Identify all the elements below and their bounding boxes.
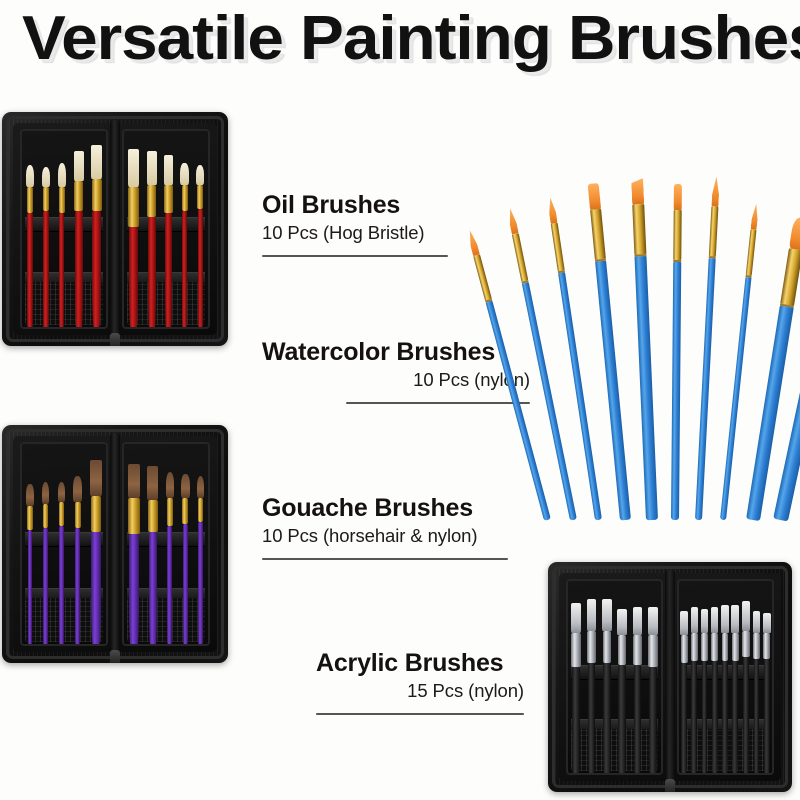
zipper-pull-icon	[665, 779, 675, 792]
ferrule-band	[709, 256, 716, 258]
brush-handle	[754, 659, 760, 775]
divider-rule	[262, 558, 508, 560]
brush-handle	[695, 258, 716, 520]
brush-bristles	[128, 149, 140, 187]
brush-handle	[618, 665, 625, 775]
brush-handle	[691, 661, 697, 775]
brush-ferrule	[618, 635, 627, 665]
brush-handle	[91, 532, 100, 646]
category-title-acrylic: Acrylic Brushes	[316, 648, 524, 678]
brush-ferrule	[91, 496, 102, 532]
brush-ferrule	[147, 185, 156, 217]
category-spec-oil: 10 Pcs (Hog Bristle)	[262, 220, 448, 245]
brush-ferrule	[633, 635, 642, 665]
brush-bristles	[571, 603, 581, 633]
brush-handle	[712, 661, 718, 775]
brush-in-case	[181, 450, 189, 646]
brush-bristles	[91, 145, 102, 179]
divider-rule	[262, 255, 448, 257]
brush-in-case	[197, 450, 205, 646]
brush-in-case	[26, 137, 34, 329]
brush-in-case	[58, 137, 66, 329]
brush-handle	[43, 528, 48, 646]
category-spec-acrylic: 15 Pcs (nylon)	[316, 678, 524, 703]
brush-in-case	[164, 137, 173, 329]
brush-in-case	[602, 587, 611, 775]
brush-in-case	[42, 450, 50, 646]
brush-in-case	[742, 587, 750, 775]
case-spine	[110, 433, 120, 655]
brush-handle	[634, 256, 658, 520]
case-spine	[665, 570, 675, 784]
brush-bristles	[701, 609, 708, 633]
brush-ferrule	[128, 498, 140, 534]
brush-in-case	[753, 587, 760, 775]
brush-ferrule	[551, 223, 565, 272]
brush-bristles	[42, 167, 50, 187]
brush-handle	[59, 213, 64, 329]
brush-ferrule	[691, 633, 698, 661]
brush-in-case	[128, 137, 140, 329]
brush-ferrule	[571, 633, 580, 667]
brush-in-case	[166, 450, 174, 646]
brush-bristles	[26, 165, 34, 187]
brush-bristles	[711, 607, 718, 633]
watercolor-brush	[631, 178, 658, 520]
brush-handle	[732, 661, 738, 775]
brush-handle	[183, 524, 188, 646]
brush-handle	[165, 213, 172, 329]
brush-bristles	[633, 607, 642, 635]
brush-ferrule	[148, 500, 158, 532]
brush-bristles	[547, 197, 558, 224]
brush-bristles	[73, 476, 81, 502]
brush-handle	[720, 277, 751, 520]
brush-handle	[198, 522, 203, 646]
brush-bristles	[753, 611, 760, 633]
brush-bristles	[617, 609, 626, 635]
brush-ferrule	[128, 187, 139, 227]
brush-in-case	[42, 137, 50, 329]
brush-in-case	[763, 587, 770, 775]
brush-ferrule	[197, 185, 203, 209]
brush-ferrule	[512, 233, 528, 281]
category-spec-watercolor: 10 Pcs (nylon)	[262, 367, 530, 392]
brush-bristles	[196, 165, 204, 185]
brush-ferrule	[182, 498, 188, 524]
brush-bristles	[197, 476, 205, 498]
brush-handle	[27, 213, 32, 329]
brush-handle	[149, 532, 158, 646]
brush-bristles	[58, 482, 66, 502]
brush-ferrule	[780, 248, 800, 306]
brush-bristles	[164, 155, 173, 185]
brush-ferrule	[182, 185, 188, 211]
brush-bristles	[587, 599, 596, 631]
brush-handle	[572, 667, 580, 775]
brush-handle	[129, 227, 138, 329]
brush-bristles	[711, 176, 720, 206]
brush-in-case	[196, 137, 204, 329]
brush-ferrule	[673, 210, 681, 260]
zipper-pull-icon	[110, 333, 120, 346]
brush-ferrule	[603, 631, 612, 663]
brush-handle	[148, 217, 156, 329]
brush-bristles	[602, 599, 611, 631]
brush-bristles	[26, 484, 34, 506]
brush-in-case	[633, 587, 642, 775]
brush-ferrule	[701, 633, 708, 661]
brush-in-case	[701, 587, 708, 775]
brush-ferrule	[711, 633, 718, 661]
case-leaf-right	[122, 442, 210, 646]
brush-in-case	[680, 587, 687, 775]
brush-bristles	[166, 472, 174, 498]
divider-rule	[316, 713, 524, 715]
brush-ferrule	[167, 498, 173, 526]
brush-bristles	[507, 208, 519, 235]
brush-in-case	[74, 137, 84, 329]
brush-handle	[588, 663, 595, 775]
brush-in-case	[58, 450, 66, 646]
brush-in-case	[147, 450, 158, 646]
brush-ferrule	[27, 506, 32, 530]
brush-handle	[649, 667, 657, 775]
brush-ferrule	[709, 206, 719, 256]
brush-bristles	[763, 613, 770, 633]
brush-ferrule	[746, 229, 757, 275]
brush-in-case	[26, 450, 34, 646]
brush-ferrule	[648, 635, 657, 667]
brush-ferrule	[75, 502, 81, 528]
brush-in-case	[571, 587, 581, 775]
category-block-oil: Oil Brushes 10 Pcs (Hog Bristle)	[262, 190, 448, 257]
brush-handle	[182, 211, 187, 329]
acrylic-brush-case-photo	[548, 562, 792, 792]
brush-ferrule	[587, 631, 596, 663]
brush-bristles	[751, 203, 760, 229]
brush-bristles	[181, 474, 189, 498]
brush-in-case	[721, 587, 728, 775]
category-title-gouache: Gouache Brushes	[262, 493, 508, 523]
brush-bristles	[691, 607, 698, 633]
category-block-acrylic: Acrylic Brushes 15 Pcs (nylon)	[316, 648, 524, 715]
brush-in-case	[587, 587, 596, 775]
brush-bristles	[147, 466, 158, 500]
case-leaf-right	[677, 579, 774, 775]
brush-ferrule	[43, 187, 49, 211]
brush-bristles	[128, 464, 141, 498]
brush-in-case	[147, 137, 157, 329]
brush-ferrule	[732, 633, 739, 661]
brush-bristles	[90, 460, 102, 496]
category-title-watercolor: Watercolor Brushes	[262, 337, 530, 367]
case-spine	[110, 120, 120, 338]
brush-handle	[743, 657, 750, 775]
case-leaf-right	[122, 129, 210, 329]
brush-in-case	[617, 587, 626, 775]
oil-brush-case-photo	[2, 112, 228, 346]
category-block-watercolor: Watercolor Brushes 10 Pcs (nylon)	[262, 337, 530, 404]
brush-ferrule	[681, 635, 688, 663]
brush-ferrule	[59, 502, 64, 526]
gouache-brush-case-photo	[2, 425, 228, 663]
brush-handle	[75, 528, 80, 646]
brush-ferrule	[59, 187, 65, 213]
brush-bristles	[742, 601, 750, 631]
brush-bristles	[180, 163, 188, 185]
mesh-pocket	[571, 729, 658, 771]
infographic-canvas: Versatile Painting Brushes	[0, 0, 800, 800]
brush-handle	[634, 665, 641, 775]
page-title: Versatile Painting Brushes	[22, 6, 800, 72]
brush-handle	[603, 663, 610, 775]
brush-handle	[28, 530, 33, 646]
brush-in-case	[91, 137, 102, 329]
case-leaf-left	[20, 442, 108, 646]
brush-handle	[671, 262, 681, 520]
brush-handle	[764, 659, 770, 775]
category-title-oil: Oil Brushes	[262, 190, 448, 220]
brush-ferrule	[722, 633, 729, 661]
brush-ferrule	[473, 254, 492, 300]
brush-in-case	[648, 587, 658, 775]
brush-in-case	[128, 450, 141, 646]
brush-bristles	[731, 605, 738, 633]
brush-handle	[198, 209, 203, 329]
brush-in-case	[90, 450, 102, 646]
brush-ferrule	[632, 204, 646, 254]
brush-in-case	[731, 587, 738, 775]
brush-bristles	[42, 482, 50, 504]
elastic-strap	[571, 665, 658, 680]
ferrule-band	[673, 260, 681, 262]
watercolor-brush-fan-photo	[540, 170, 800, 520]
brush-handle	[59, 526, 64, 646]
watercolor-brush	[671, 184, 682, 520]
brush-bristles	[631, 178, 644, 204]
brush-bristles	[147, 151, 157, 185]
zipper-pull-icon	[110, 650, 120, 663]
brush-handle	[129, 534, 139, 646]
brush-handle	[92, 211, 101, 329]
brush-in-case	[180, 137, 188, 329]
brush-ferrule	[753, 633, 760, 659]
brush-ferrule	[27, 187, 33, 213]
brush-handle	[75, 211, 83, 329]
brush-ferrule	[198, 498, 203, 522]
brush-bristles	[789, 217, 800, 251]
brush-ferrule	[92, 179, 102, 211]
brush-ferrule	[763, 633, 770, 659]
brush-in-case	[691, 587, 698, 775]
brush-handle	[702, 661, 708, 775]
brush-ferrule	[590, 209, 606, 260]
brush-handle	[43, 211, 48, 329]
brush-bristles	[674, 184, 682, 210]
brush-handle	[681, 663, 687, 775]
brush-bristles	[588, 183, 601, 210]
brush-handle	[722, 661, 728, 775]
category-block-gouache: Gouache Brushes 10 Pcs (horsehair & nylo…	[262, 493, 508, 560]
brush-in-case	[711, 587, 718, 775]
brush-bristles	[58, 163, 66, 187]
case-leaf-left	[20, 129, 108, 329]
category-spec-gouache: 10 Pcs (horsehair & nylon)	[262, 523, 508, 548]
brush-ferrule	[742, 631, 750, 657]
brush-handle	[595, 261, 631, 521]
brush-handle	[486, 301, 551, 521]
brush-bristles	[648, 607, 658, 635]
brush-ferrule	[43, 504, 48, 528]
divider-rule	[346, 402, 530, 404]
brush-ferrule	[164, 185, 172, 213]
case-leaf-left	[566, 579, 663, 775]
watercolor-brush	[695, 176, 720, 520]
brush-bristles	[466, 229, 479, 256]
brush-bristles	[74, 151, 84, 181]
brush-in-case	[73, 450, 81, 646]
brush-bristles	[680, 611, 687, 635]
brush-bristles	[721, 605, 728, 633]
brush-ferrule	[74, 181, 83, 211]
brush-handle	[167, 526, 172, 646]
